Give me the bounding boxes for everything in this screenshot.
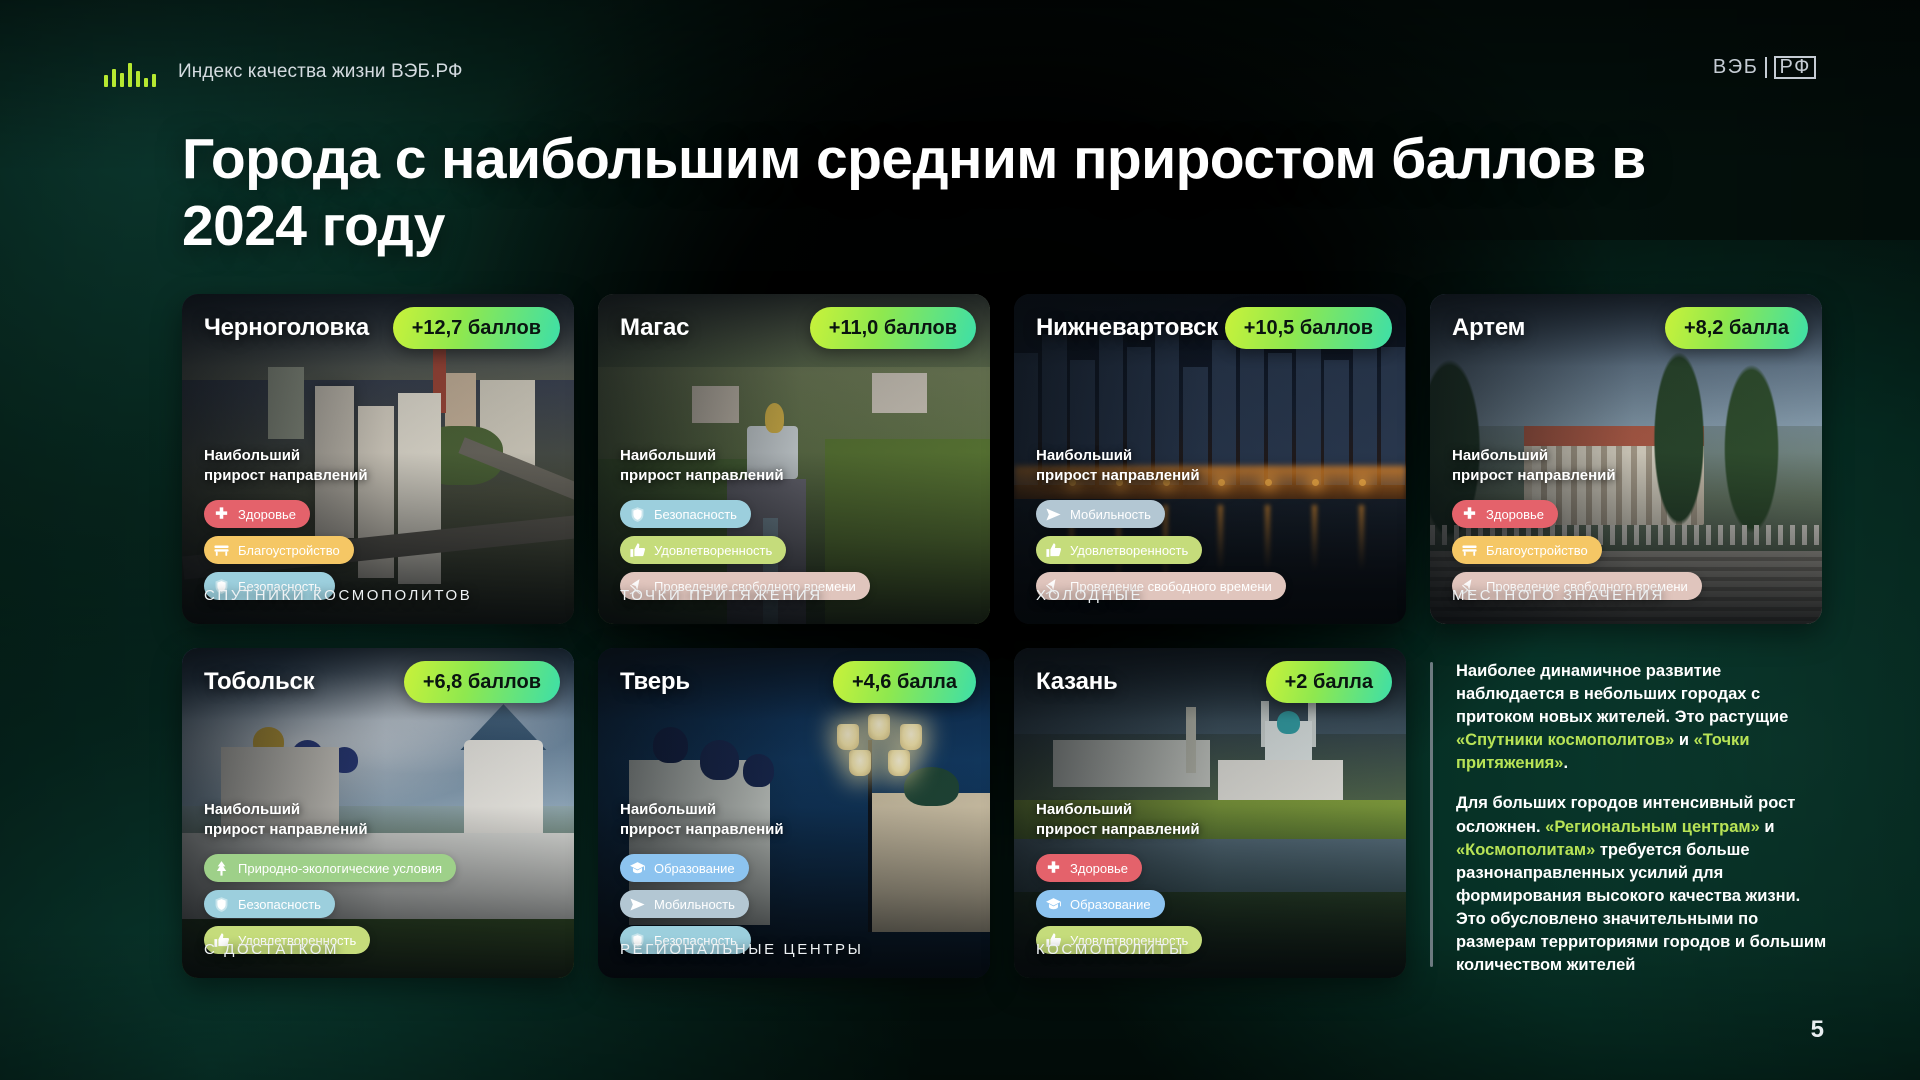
city-category-label: МЕСТНОГО ЗНАЧЕНИЯ [1452, 587, 1665, 604]
city-card[interactable]: Артем+8,2 баллаНаибольшийприрост направл… [1430, 294, 1822, 624]
score-badge: +8,2 балла [1665, 307, 1808, 349]
city-card[interactable]: Казань+2 баллаНаибольшийприрост направле… [1014, 648, 1406, 978]
bench-icon [213, 542, 230, 559]
veb-rf-logo: ВЭБ РФ [1713, 56, 1816, 79]
city-name: Тверь [620, 668, 690, 696]
direction-tag-label: Удовлетворенность [654, 543, 772, 558]
direction-tag-label: Удовлетворенность [1070, 543, 1188, 558]
insight-p1-highlight-1: «Спутники космополитов» [1456, 731, 1674, 749]
city-category-label: СПУТНИКИ КОСМОПОЛИТОВ [204, 587, 472, 604]
direction-tag: Благоустройство [1452, 536, 1602, 564]
direction-tag-label: Образование [1070, 897, 1151, 912]
insight-p2-highlight-2: «Космополитам» [1456, 841, 1595, 859]
direction-tag: Удовлетворенность [620, 536, 786, 564]
city-name: Артем [1452, 314, 1525, 342]
insight-p1-text-c: . [1563, 754, 1568, 772]
growth-subtitle-line1: Наибольший [204, 447, 300, 464]
city-name: Черноголовка [204, 314, 369, 342]
growth-subtitle-line1: Наибольший [620, 801, 716, 818]
brand-block: Индекс качества жизни ВЭБ.РФ [104, 52, 463, 92]
city-name: Казань [1036, 668, 1118, 696]
direction-tag: Безопасность [620, 500, 751, 528]
shield-icon [629, 506, 646, 523]
score-badge: +2 балла [1266, 661, 1392, 703]
direction-tag-label: Мобильность [654, 897, 735, 912]
growth-subtitle: Наибольшийприрост направлений [1036, 446, 1200, 486]
city-category-label: РЕГИОНАЛЬНЫЕ ЦЕНТРЫ [620, 941, 864, 958]
city-category-label: С ДОСТАТКОМ [204, 941, 339, 958]
direction-tag-label: Здоровье [1070, 861, 1128, 876]
direction-tag-label: Природно-экологические условия [238, 861, 442, 876]
city-name: Магас [620, 314, 689, 342]
direction-tag-list: МобильностьУдовлетворенностьПроведение с… [1036, 500, 1286, 600]
thumbs-up-icon [629, 542, 646, 559]
direction-tag: Безопасность [204, 890, 335, 918]
veb-logo-text: ВЭБ [1713, 56, 1759, 79]
insight-paragraph-2: Для больших городов интенсивный рост осл… [1456, 792, 1830, 977]
growth-subtitle-line1: Наибольший [204, 801, 300, 818]
growth-subtitle: Наибольшийприрост направлений [204, 446, 368, 486]
score-badge: +10,5 баллов [1225, 307, 1392, 349]
score-badge: +4,6 балла [833, 661, 976, 703]
growth-subtitle-line2: прирост направлений [620, 467, 784, 484]
health-cross-icon [1461, 506, 1478, 523]
insight-p2-highlight-1: «Региональным центрам» [1545, 818, 1760, 836]
direction-tag-label: Мобильность [1070, 507, 1151, 522]
direction-tag-label: Благоустройство [1486, 543, 1588, 558]
growth-subtitle-line2: прирост направлений [620, 821, 784, 838]
growth-subtitle-line2: прирост направлений [1036, 821, 1200, 838]
direction-tag: Здоровье [204, 500, 310, 528]
paper-plane-icon [1045, 506, 1062, 523]
city-category-label: ХОЛОДНЫЕ [1036, 587, 1143, 604]
direction-tag: Природно-экологические условия [204, 854, 456, 882]
insight-p1-text-a: Наиболее динамичное развитие наблюдается… [1456, 662, 1788, 726]
score-badge: +6,8 баллов [404, 661, 560, 703]
brand-title: Индекс качества жизни ВЭБ.РФ [178, 61, 463, 83]
growth-subtitle-line1: Наибольший [1452, 447, 1548, 464]
rf-logo-text: РФ [1774, 56, 1816, 79]
direction-tag-label: Благоустройство [238, 543, 340, 558]
direction-tag-list: ОбразованиеМобильностьБезопасность [620, 854, 751, 954]
direction-tag-list: ЗдоровьеБлагоустройствоПроведение свобод… [1452, 500, 1702, 600]
growth-subtitle: Наибольшийприрост направлений [1036, 800, 1200, 840]
direction-tag-label: Образование [654, 861, 735, 876]
growth-subtitle: Наибольшийприрост направлений [204, 800, 368, 840]
direction-tag-label: Безопасность [654, 507, 737, 522]
direction-tag-label: Здоровье [238, 507, 296, 522]
city-card[interactable]: Черноголовка+12,7 балловНаибольшийприрос… [182, 294, 574, 624]
direction-tag-label: Безопасность [238, 897, 321, 912]
slide-root: Индекс качества жизни ВЭБ.РФ ВЭБ РФ Горо… [0, 0, 1920, 1080]
growth-subtitle-line2: прирост направлений [204, 821, 368, 838]
insight-paragraph-1: Наиболее динамичное развитие наблюдается… [1456, 660, 1830, 775]
direction-tag: Образование [1036, 890, 1165, 918]
direction-tag: Образование [620, 854, 749, 882]
page-number: 5 [1811, 1016, 1824, 1044]
direction-tag: Мобильность [1036, 500, 1165, 528]
insight-p1-text-b: и [1674, 731, 1693, 749]
insight-p2-text-b: и [1760, 818, 1775, 836]
growth-subtitle: Наибольшийприрост направлений [620, 800, 784, 840]
growth-subtitle: Наибольшийприрост направлений [1452, 446, 1616, 486]
bench-icon [1461, 542, 1478, 559]
health-cross-icon [213, 506, 230, 523]
score-badge: +12,7 баллов [393, 307, 560, 349]
city-card[interactable]: Нижневартовск+10,5 балловНаибольшийприро… [1014, 294, 1406, 624]
direction-tag-list: ЗдоровьеОбразованиеУдовлетворенность [1036, 854, 1202, 954]
direction-tag-list: Природно-экологические условияБезопаснос… [204, 854, 456, 954]
direction-tag-list: БезопасностьУдовлетворенностьПроведение … [620, 500, 870, 600]
score-badge: +11,0 баллов [810, 307, 976, 349]
paper-plane-icon [629, 896, 646, 913]
growth-subtitle-line2: прирост направлений [204, 467, 368, 484]
shield-icon [213, 896, 230, 913]
direction-tag: Мобильность [620, 890, 749, 918]
graduation-cap-icon [1045, 896, 1062, 913]
insight-p2-text-c: требуется больше разнонаправленных усили… [1456, 841, 1826, 974]
city-category-label: ТОЧКИ ПРИТЯЖЕНИЯ [620, 587, 823, 604]
growth-subtitle-line1: Наибольший [1036, 801, 1132, 818]
insight-panel: Наиболее динамичное развитие наблюдается… [1430, 660, 1830, 977]
tree-icon [213, 860, 230, 877]
growth-subtitle-line1: Наибольший [620, 447, 716, 464]
city-card[interactable]: Магас+11,0 балловНаибольшийприрост напра… [598, 294, 990, 624]
growth-subtitle-line2: прирост направлений [1452, 467, 1616, 484]
city-category-label: КОСМОПОЛИТЫ [1036, 941, 1185, 958]
direction-tag: Удовлетворенность [1036, 536, 1202, 564]
direction-tag-label: Здоровье [1486, 507, 1544, 522]
direction-tag-list: ЗдоровьеБлагоустройствоБезопасность [204, 500, 354, 600]
graduation-cap-icon [629, 860, 646, 877]
city-name: Нижневартовск [1036, 314, 1218, 342]
direction-tag: Благоустройство [204, 536, 354, 564]
growth-subtitle: Наибольшийприрост направлений [620, 446, 784, 486]
health-cross-icon [1045, 860, 1062, 877]
growth-subtitle-line2: прирост направлений [1036, 467, 1200, 484]
city-name: Тобольск [204, 668, 314, 696]
city-card[interactable]: Тверь+4,6 баллаНаибольшийприрост направл… [598, 648, 990, 978]
bar-chart-logo-icon [104, 57, 156, 87]
veb-logo-divider [1765, 57, 1767, 78]
slide-header: Индекс качества жизни ВЭБ.РФ ВЭБ РФ [0, 52, 1920, 92]
growth-subtitle-line1: Наибольший [1036, 447, 1132, 464]
page-title: Города с наибольшим средним приростом ба… [182, 126, 1742, 259]
city-card[interactable]: Тобольск+6,8 балловНаибольшийприрост нап… [182, 648, 574, 978]
direction-tag: Здоровье [1452, 500, 1558, 528]
thumbs-up-icon [1045, 542, 1062, 559]
direction-tag: Здоровье [1036, 854, 1142, 882]
